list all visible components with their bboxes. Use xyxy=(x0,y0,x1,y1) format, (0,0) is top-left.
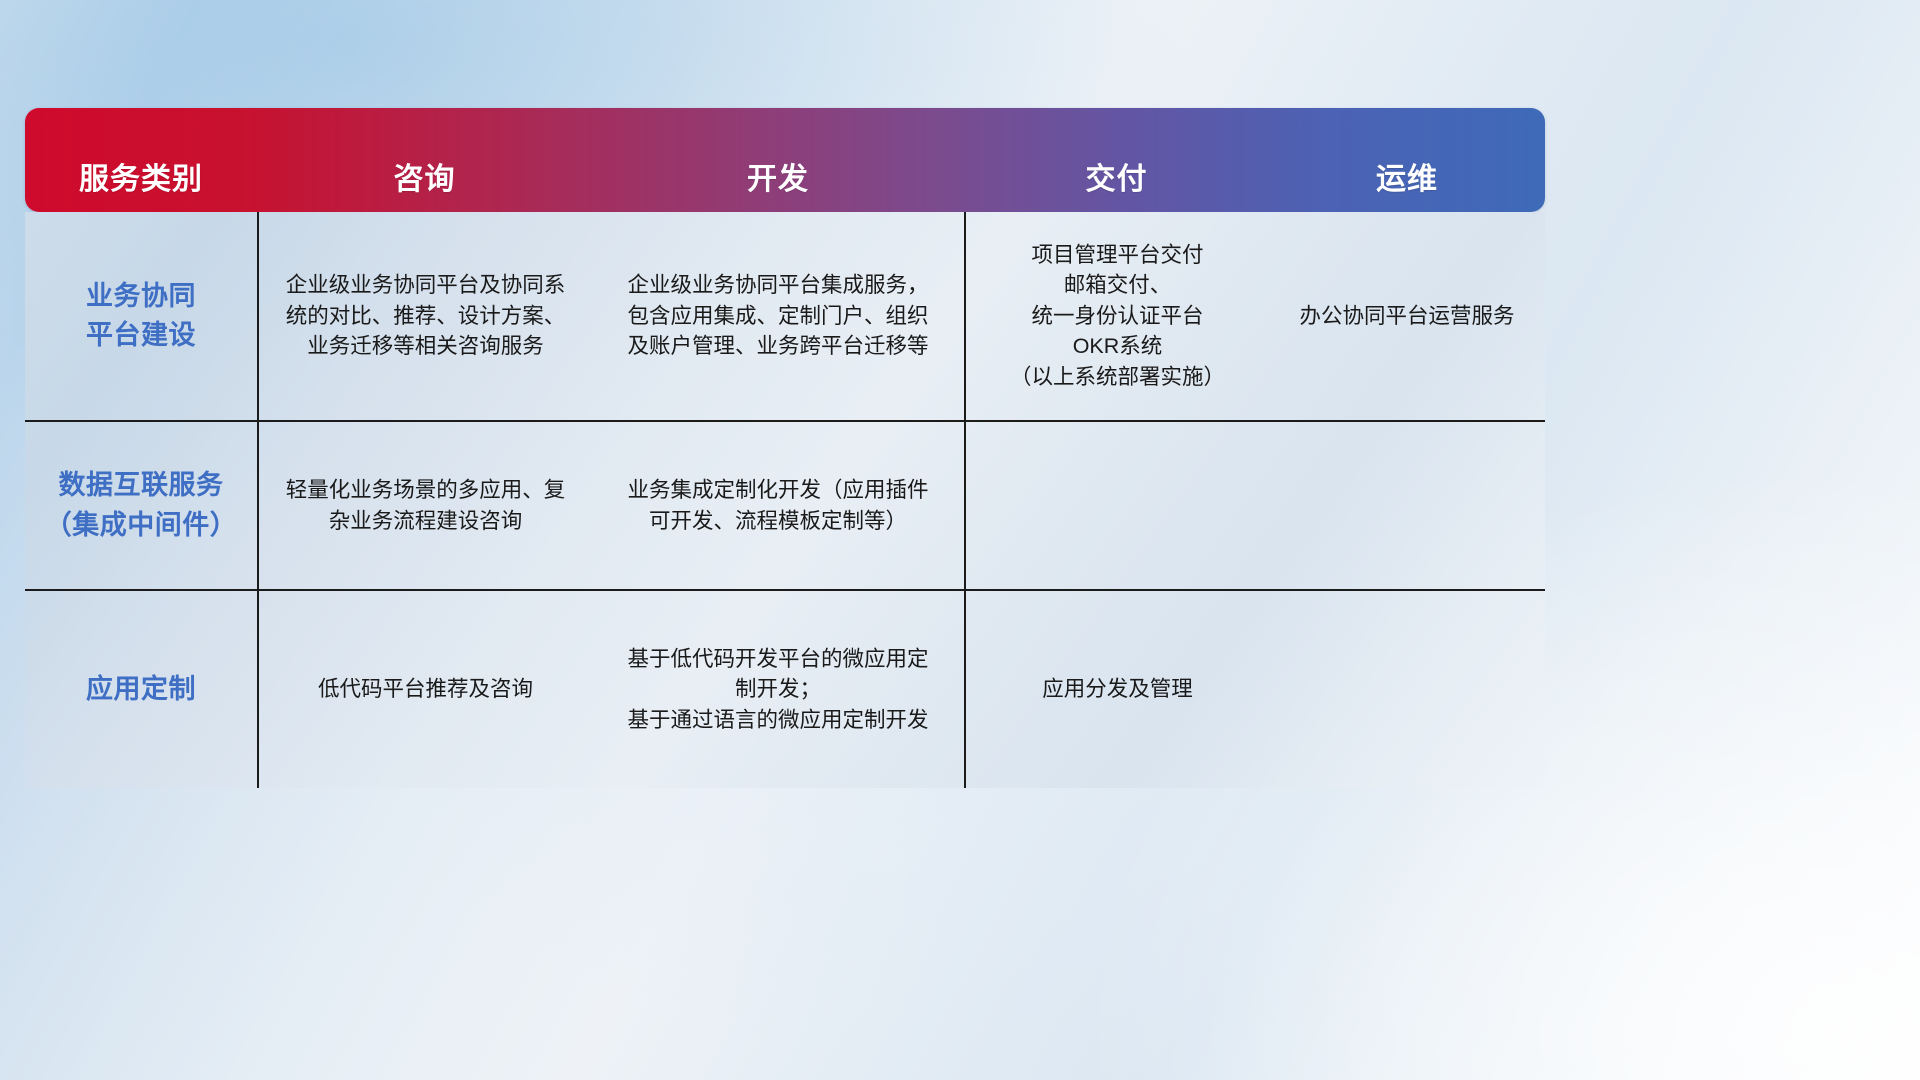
table-header-row: 服务类别 咨询 开发 交付 运维 xyxy=(25,108,1545,212)
column-header-service-category: 服务类别 xyxy=(25,108,257,212)
row-label-business-collaboration: 业务协同 平台建设 xyxy=(25,212,257,420)
cell-operations-row2 xyxy=(1269,422,1545,589)
cell-consulting-row2: 轻量化业务场景的多应用、复 杂业务流程建设咨询 xyxy=(257,422,592,589)
cell-consulting-row3: 低代码平台推荐及咨询 xyxy=(257,591,592,788)
cell-delivery-row1: 项目管理平台交付 邮箱交付、 统一身份认证平台 OKR系统 （以上系统部署实施） xyxy=(964,212,1269,420)
table-row: 应用定制 低代码平台推荐及咨询 基于低代码开发平台的微应用定 制开发； 基于通过… xyxy=(25,589,1545,788)
row-label-application-customization: 应用定制 xyxy=(25,591,257,788)
column-header-operations: 运维 xyxy=(1269,108,1545,212)
service-matrix-table: 服务类别 咨询 开发 交付 运维 业务协同 平台建设 企业级业务协同平台及协同系… xyxy=(25,108,1545,788)
cell-development-row1: 企业级业务协同平台集成服务， 包含应用集成、定制门户、组织 及账户管理、业务跨平… xyxy=(592,212,964,420)
cell-consulting-row1: 企业级业务协同平台及协同系 统的对比、推荐、设计方案、 业务迁移等相关咨询服务 xyxy=(257,212,592,420)
table-body: 业务协同 平台建设 企业级业务协同平台及协同系 统的对比、推荐、设计方案、 业务… xyxy=(25,212,1545,788)
cell-operations-row1: 办公协同平台运营服务 xyxy=(1269,212,1545,420)
cell-delivery-row2 xyxy=(964,422,1269,589)
table-row: 数据互联服务 （集成中间件） 轻量化业务场景的多应用、复 杂业务流程建设咨询 业… xyxy=(25,420,1545,589)
cell-delivery-row3: 应用分发及管理 xyxy=(964,591,1269,788)
cell-development-row3: 基于低代码开发平台的微应用定 制开发； 基于通过语言的微应用定制开发 xyxy=(592,591,964,788)
table-row: 业务协同 平台建设 企业级业务协同平台及协同系 统的对比、推荐、设计方案、 业务… xyxy=(25,212,1545,420)
column-header-delivery: 交付 xyxy=(964,108,1269,212)
cell-development-row2: 业务集成定制化开发（应用插件 可开发、流程模板定制等） xyxy=(592,422,964,589)
column-header-development: 开发 xyxy=(592,108,964,212)
cell-operations-row3 xyxy=(1269,591,1545,788)
row-label-data-interconnect-service: 数据互联服务 （集成中间件） xyxy=(25,422,257,589)
column-header-consulting: 咨询 xyxy=(257,108,592,212)
